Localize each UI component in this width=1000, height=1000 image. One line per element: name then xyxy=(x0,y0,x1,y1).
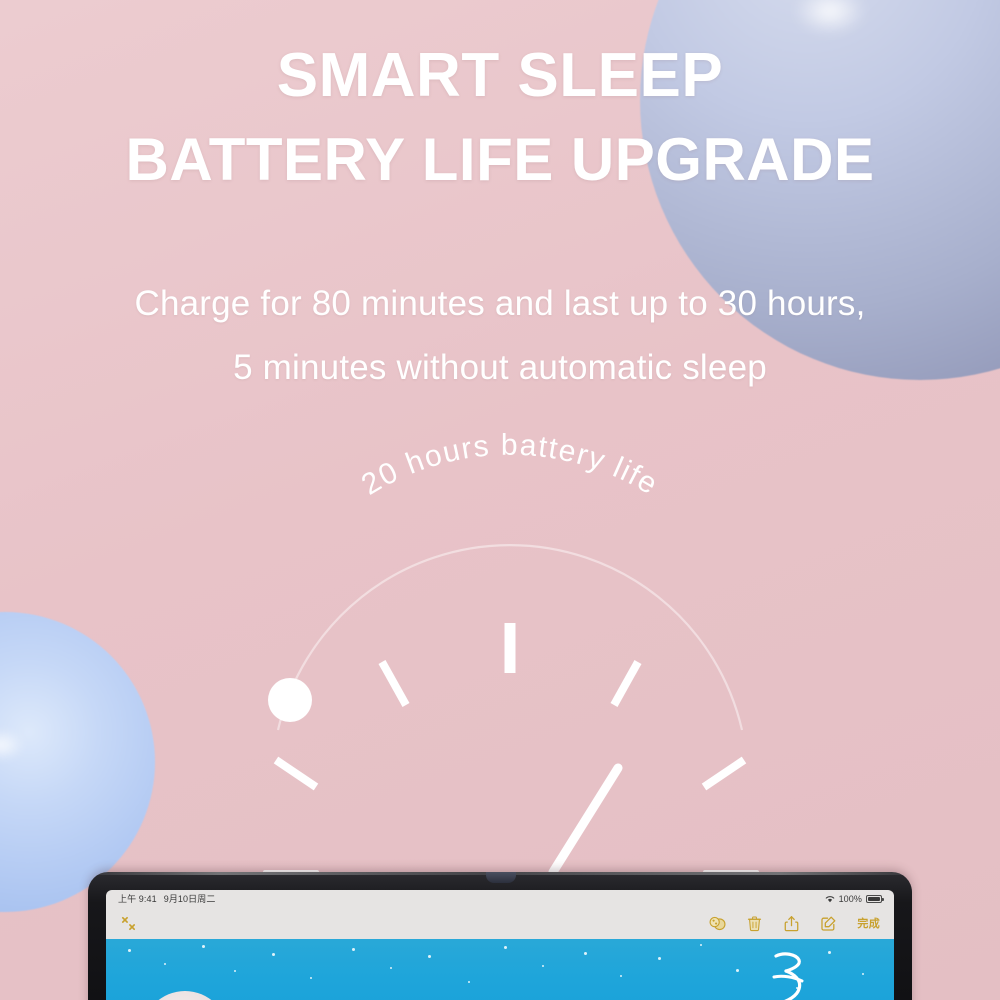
canvas-handwritten-glyph xyxy=(766,947,812,1000)
markup-color-icon[interactable] xyxy=(709,915,726,932)
star-dot xyxy=(128,949,131,952)
tablet-camera-notch xyxy=(486,872,516,883)
headline-line-2: BATTERY LIFE UPGRADE xyxy=(0,118,1000,202)
page-title: SMART SLEEP BATTERY LIFE UPGRADE xyxy=(0,34,1000,202)
subtitle-line-1: Charge for 80 minutes and last up to 30 … xyxy=(0,272,1000,336)
star-dot xyxy=(310,977,312,979)
star-dot xyxy=(700,944,702,946)
star-dot xyxy=(202,945,205,948)
poster-stage: SMART SLEEP BATTERY LIFE UPGRADE Charge … xyxy=(0,0,1000,1000)
gauge-tick-upper-right xyxy=(614,662,638,705)
canvas-moon-shape xyxy=(142,991,228,1000)
status-bar-right: 100% xyxy=(825,894,882,904)
decorative-sphere-left xyxy=(0,612,155,912)
star-dot xyxy=(736,969,739,972)
battery-icon xyxy=(866,895,882,903)
status-bar-time: 上午 9:41 xyxy=(118,892,157,905)
wifi-icon xyxy=(825,895,835,903)
share-icon[interactable] xyxy=(783,915,800,932)
app-toolbar: 完成 xyxy=(106,907,894,939)
moon-icon xyxy=(717,675,759,731)
sphere-highlight-top-right xyxy=(795,0,865,34)
status-bar-date: 9月10日周二 xyxy=(164,892,216,905)
battery-percent-label: 100% xyxy=(839,894,862,904)
star-dot xyxy=(352,948,355,951)
star-dot xyxy=(620,975,622,977)
gauge-tick-upper-left xyxy=(382,662,406,705)
star-dot xyxy=(584,952,587,955)
gauge-ticks xyxy=(276,623,744,787)
gauge-tick-lower-right xyxy=(704,760,744,787)
battery-gauge: 20 hours battery life xyxy=(210,515,810,915)
compose-icon[interactable] xyxy=(820,915,837,932)
star-dot xyxy=(468,981,470,983)
star-dot xyxy=(658,957,661,960)
tablet-device: 上午 9:41 9月10日周二 100% xyxy=(88,872,912,1000)
headline-line-1: SMART SLEEP xyxy=(0,34,1000,118)
star-dot xyxy=(164,963,166,965)
page-subtitle: Charge for 80 minutes and last up to 30 … xyxy=(0,272,1000,400)
trash-icon[interactable] xyxy=(746,915,763,932)
subtitle-line-2: 5 minutes without automatic sleep xyxy=(0,336,1000,400)
document-canvas[interactable] xyxy=(106,939,894,1000)
tablet-screen: 上午 9:41 9月10日周二 100% xyxy=(106,890,894,1000)
status-bar-left: 上午 9:41 9月10日周二 xyxy=(118,892,215,905)
star-dot xyxy=(828,951,831,954)
gauge-arc-label: 20 hours battery life xyxy=(356,429,664,502)
star-dot xyxy=(234,970,236,972)
gauge-tick-lower-left xyxy=(276,760,316,787)
star-dot xyxy=(272,953,275,956)
star-dot xyxy=(390,967,392,969)
star-dot xyxy=(542,965,544,967)
status-bar: 上午 9:41 9月10日周二 100% xyxy=(106,890,894,907)
star-dot xyxy=(504,946,507,949)
star-dot xyxy=(862,973,864,975)
sun-icon xyxy=(268,678,312,722)
gauge-arc-label-text: 20 hours battery life xyxy=(356,429,664,502)
collapse-arrows-icon[interactable] xyxy=(120,915,137,932)
done-button[interactable]: 完成 xyxy=(857,915,880,931)
gauge-needle xyxy=(553,768,618,872)
toolbar-actions: 完成 xyxy=(709,915,880,932)
sphere-highlight-left xyxy=(0,730,24,760)
star-dot xyxy=(428,955,431,958)
